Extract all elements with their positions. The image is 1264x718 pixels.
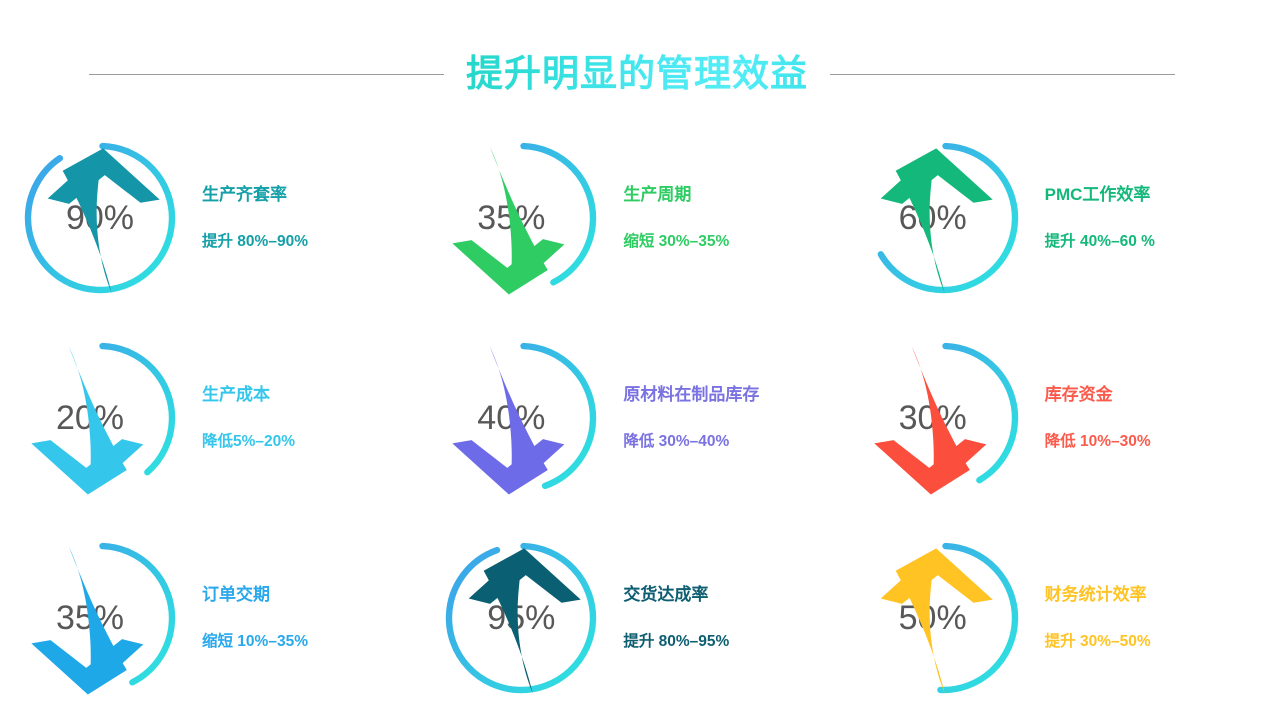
metric-ring: 20% xyxy=(20,338,180,498)
metric-labels: 库存资金降低 10%–30% xyxy=(1045,385,1151,452)
metric-title: PMC工作效率 xyxy=(1045,185,1151,205)
metric-subtitle: 降低5%–20% xyxy=(202,433,295,452)
metrics-grid: 90%生产齐套率提升 80%–90%35%生产周期缩短 30%–35%60%PM… xyxy=(0,118,1264,718)
ring-center-content: 60% xyxy=(853,138,1013,298)
ring-center-content: 30% xyxy=(853,338,1013,498)
ring-center-content: 35% xyxy=(431,138,591,298)
metric-subtitle: 提升 80%–95% xyxy=(623,633,729,652)
metric-labels: 原材料在制品库存降低 30%–40% xyxy=(623,385,759,452)
metric-title: 生产成本 xyxy=(202,385,270,405)
metric-ring: 35% xyxy=(441,138,601,298)
metric-subtitle: 提升 40%–60 % xyxy=(1045,233,1155,252)
metric-card: 20%生产成本降低5%–20% xyxy=(0,318,421,518)
metric-subtitle: 缩短 10%–35% xyxy=(202,633,308,652)
metric-ring: 95% xyxy=(441,538,601,698)
metric-title: 原材料在制品库存 xyxy=(623,385,759,405)
metric-card: 60%PMC工作效率提升 40%–60 % xyxy=(843,118,1264,318)
page-title: 提升明显的管理效益 xyxy=(466,49,808,99)
metric-card: 90%生产齐套率提升 80%–90% xyxy=(0,118,421,318)
metric-labels: 生产周期缩短 30%–35% xyxy=(623,185,729,252)
ring-center-content: 20% xyxy=(10,338,170,498)
arrow-up-icon xyxy=(853,142,1013,302)
metric-labels: 订单交期缩短 10%–35% xyxy=(202,585,308,652)
metric-card: 35%订单交期缩短 10%–35% xyxy=(0,518,421,718)
arrow-down-icon xyxy=(853,342,1013,502)
ring-center-content: 40% xyxy=(431,338,591,498)
arrow-up-icon xyxy=(853,542,1013,702)
metric-card: 30%库存资金降低 10%–30% xyxy=(843,318,1264,518)
metric-card: 40%原材料在制品库存降低 30%–40% xyxy=(421,318,842,518)
ring-center-content: 95% xyxy=(441,538,601,698)
arrow-up-icon xyxy=(20,142,180,302)
metric-labels: 生产齐套率提升 80%–90% xyxy=(202,185,308,252)
metric-title: 生产齐套率 xyxy=(202,185,287,205)
ring-center-content: 50% xyxy=(853,538,1013,698)
metric-subtitle: 提升 80%–90% xyxy=(202,233,308,252)
arrow-down-icon xyxy=(10,542,170,702)
arrow-down-icon xyxy=(10,342,170,502)
page-header: 提升明显的管理效益 xyxy=(0,44,1264,104)
metric-title: 交货达成率 xyxy=(623,585,708,605)
arrow-down-icon xyxy=(431,142,591,302)
metric-ring: 60% xyxy=(863,138,1023,298)
ring-center-content: 35% xyxy=(10,538,170,698)
metric-ring: 40% xyxy=(441,338,601,498)
metric-subtitle: 缩短 30%–35% xyxy=(623,233,729,252)
metric-subtitle: 降低 10%–30% xyxy=(1045,433,1151,452)
metric-ring: 30% xyxy=(863,338,1023,498)
metric-title: 库存资金 xyxy=(1045,385,1113,405)
metric-subtitle: 降低 30%–40% xyxy=(623,433,729,452)
metric-labels: 财务统计效率提升 30%–50% xyxy=(1045,585,1151,652)
metric-labels: 交货达成率提升 80%–95% xyxy=(623,585,729,652)
metric-ring: 50% xyxy=(863,538,1023,698)
arrow-down-icon xyxy=(431,342,591,502)
header-rule-left xyxy=(89,74,444,75)
metric-ring: 90% xyxy=(20,138,180,298)
header-rule-right xyxy=(830,74,1175,75)
metric-labels: PMC工作效率提升 40%–60 % xyxy=(1045,185,1155,252)
metric-title: 生产周期 xyxy=(623,185,691,205)
metric-title: 订单交期 xyxy=(202,585,270,605)
arrow-up-icon xyxy=(441,542,601,702)
metric-title: 财务统计效率 xyxy=(1045,585,1147,605)
ring-center-content: 90% xyxy=(20,138,180,298)
metric-ring: 35% xyxy=(20,538,180,698)
metric-card: 50%财务统计效率提升 30%–50% xyxy=(843,518,1264,718)
metric-labels: 生产成本降低5%–20% xyxy=(202,385,295,452)
metric-card: 35%生产周期缩短 30%–35% xyxy=(421,118,842,318)
metric-card: 95%交货达成率提升 80%–95% xyxy=(421,518,842,718)
metric-subtitle: 提升 30%–50% xyxy=(1045,633,1151,652)
